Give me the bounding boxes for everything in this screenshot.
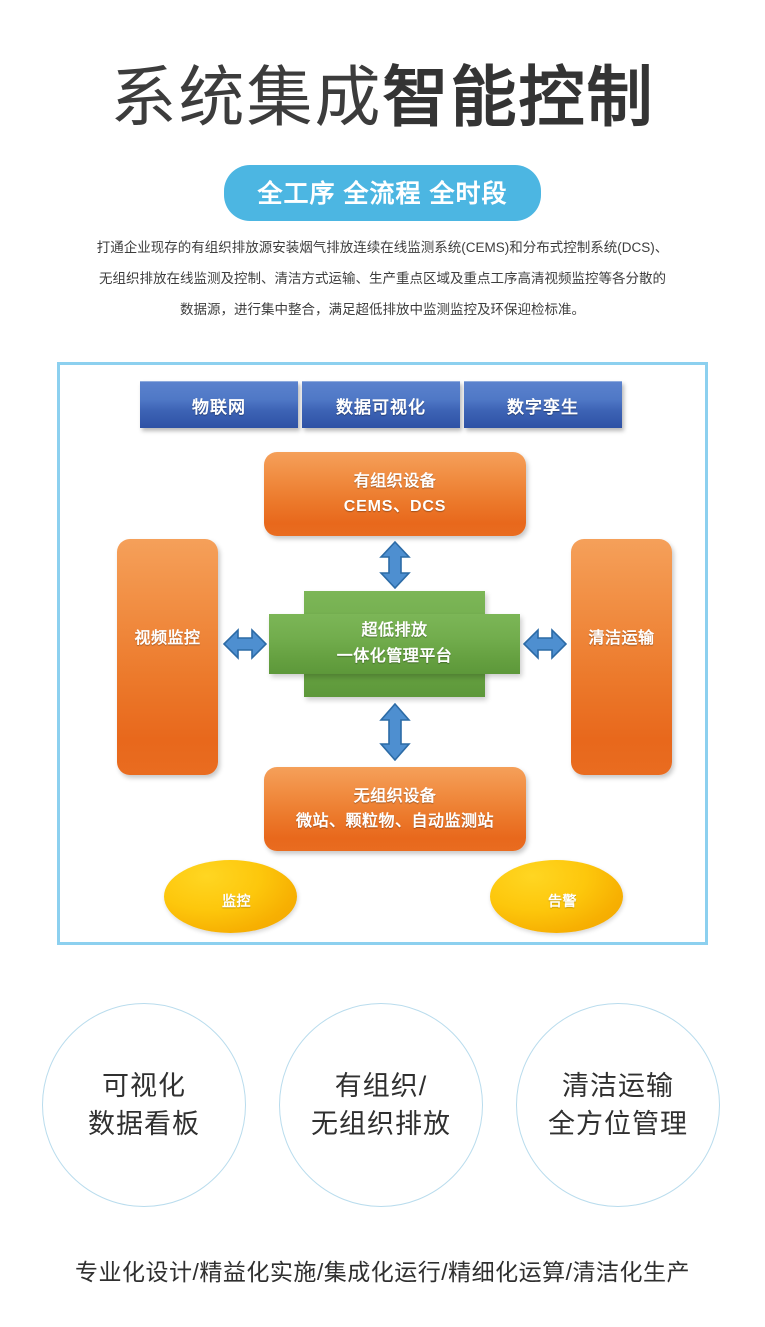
node-label: 视频监控 [134, 626, 200, 651]
double-arrow-horizontal-icon [523, 627, 567, 666]
feature-circle-transport[interactable]: 清洁运输 全方位管理 [516, 1003, 720, 1207]
double-arrow-vertical-icon [376, 703, 414, 766]
scope-badge: 全工序 全流程 全时段 [224, 165, 542, 221]
diagram-node-platform[interactable]: 超低排放 一体化管理平台 [269, 591, 520, 697]
page-title-bold: 智能控制 [383, 60, 655, 134]
diagram-node-video-monitoring[interactable]: 视频监控 [117, 539, 218, 775]
double-arrow-horizontal-icon [223, 627, 267, 666]
diagram-tag-label: 数字孪生 [507, 393, 579, 418]
diagram-ellipse-alarm[interactable]: 告警 [490, 860, 623, 933]
diagram-node-unorganized-equipment[interactable]: 无组织设备 微站、颗粒物、自动监测站 [264, 767, 526, 851]
feature-line-1: 清洁运输 [562, 1067, 674, 1105]
feature-circle-visualization[interactable]: 可视化 数据看板 [42, 1003, 246, 1207]
diagram-node-clean-transport[interactable]: 清洁运输 [571, 539, 672, 775]
feature-line-1: 有组织/ [335, 1067, 428, 1105]
node-line-2: 微站、颗粒物、自动监测站 [296, 809, 494, 834]
ellipse-label: 监控 [222, 891, 251, 911]
feature-circles: 可视化 数据看板 有组织/ 无组织排放 清洁运输 全方位管理 [0, 1003, 765, 1207]
architecture-diagram: 物联网 数据可视化 数字孪生 有组织设备 CEMS、DCS 无组织设备 微站、颗… [57, 362, 708, 945]
diagram-node-organized-equipment[interactable]: 有组织设备 CEMS、DCS [264, 452, 526, 536]
badge-row: 全工序 全流程 全时段 [0, 165, 765, 221]
ellipse-label: 告警 [548, 891, 577, 911]
diagram-tag-digital-twin[interactable]: 数字孪生 [464, 381, 622, 428]
intro-line-3: 数据源，进行集中整合，满足超低排放中监测监控及环保迎检标准。 [62, 294, 703, 325]
feature-line-2: 数据看板 [88, 1105, 200, 1143]
diagram-tag-label: 数据可视化 [336, 393, 426, 418]
feature-line-2: 无组织排放 [311, 1105, 451, 1143]
diagram-tag-data-visualization[interactable]: 数据可视化 [302, 381, 460, 428]
node-line-1: 超低排放 [361, 618, 427, 644]
node-line-1: 无组织设备 [354, 784, 437, 809]
node-line-2: CEMS、DCS [344, 494, 446, 519]
feature-circle-emissions[interactable]: 有组织/ 无组织排放 [279, 1003, 483, 1207]
diagram-ellipse-monitoring[interactable]: 监控 [164, 860, 297, 933]
node-line-1: 有组织设备 [354, 469, 437, 494]
feature-line-1: 可视化 [102, 1067, 186, 1105]
node-label: 清洁运输 [588, 626, 654, 651]
footer-tagline: 专业化设计/精益化实施/集成化运行/精细化运算/清洁化生产 [0, 1253, 765, 1287]
double-arrow-vertical-icon [376, 541, 414, 594]
diagram-tag-iot[interactable]: 物联网 [140, 381, 298, 428]
intro-paragraph: 打通企业现存的有组织排放源安装烟气排放连续在线监测系统(CEMS)和分布式控制系… [62, 232, 703, 325]
node-line-2: 一体化管理平台 [337, 644, 453, 670]
platform-label-group: 超低排放 一体化管理平台 [269, 591, 520, 697]
diagram-tag-label: 物联网 [192, 393, 246, 418]
page-title: 系统集成智能控制 [0, 52, 765, 142]
intro-line-2: 无组织排放在线监测及控制、清洁方式运输、生产重点区域及重点工序高清视频监控等各分… [62, 263, 703, 294]
page-title-light: 系统集成 [111, 60, 383, 134]
feature-line-2: 全方位管理 [548, 1105, 688, 1143]
intro-line-1: 打通企业现存的有组织排放源安装烟气排放连续在线监测系统(CEMS)和分布式控制系… [62, 232, 703, 263]
